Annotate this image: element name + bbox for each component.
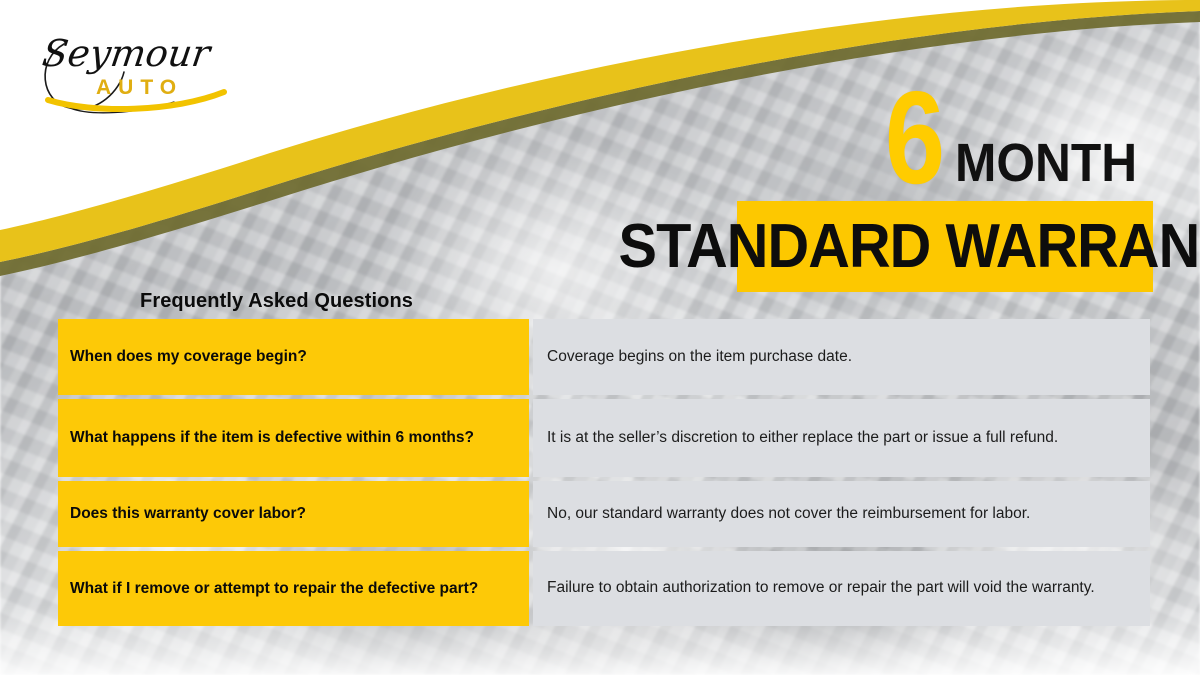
- seymour-auto-logo: Seymour AUTO: [24, 16, 274, 126]
- faq-answer-text: It is at the seller’s discretion to eith…: [547, 428, 1136, 448]
- faq-question-cell: What if I remove or attempt to repair th…: [58, 551, 529, 626]
- duration-number: 6: [884, 84, 943, 192]
- faq-table: When does my coverage begin? Coverage be…: [58, 319, 1150, 626]
- faq-row: What if I remove or attempt to repair th…: [58, 551, 1150, 626]
- faq-heading: Frequently Asked Questions: [140, 290, 413, 313]
- logo-wordmark: Seymour: [40, 31, 215, 75]
- duration-line: 6 MONTH: [737, 70, 1153, 192]
- faq-question-text: What if I remove or attempt to repair th…: [70, 579, 478, 599]
- faq-question-cell: When does my coverage begin?: [58, 319, 529, 395]
- duration-unit: MONTH: [955, 140, 1137, 192]
- faq-row: When does my coverage begin? Coverage be…: [58, 319, 1150, 395]
- faq-answer-cell: Failure to obtain authorization to remov…: [533, 551, 1150, 626]
- faq-question-cell: What happens if the item is defective wi…: [58, 399, 529, 477]
- logo-subtext: AUTO: [96, 76, 183, 99]
- faq-question-cell: Does this warranty cover labor?: [58, 481, 529, 547]
- faq-row: Does this warranty cover labor? No, our …: [58, 481, 1150, 547]
- faq-answer-text: No, our standard warranty does not cover…: [547, 504, 1136, 524]
- faq-answer-cell: It is at the seller’s discretion to eith…: [533, 399, 1150, 477]
- faq-question-text: When does my coverage begin?: [70, 347, 307, 367]
- warranty-slide: Seymour AUTO 6 MONTH STANDARD WARRANTY F…: [0, 0, 1200, 675]
- warranty-headline: 6 MONTH STANDARD WARRANTY: [737, 70, 1153, 292]
- standard-warranty-label: STANDARD WARRANTY: [619, 216, 1200, 278]
- faq-question-text: What happens if the item is defective wi…: [70, 428, 474, 448]
- faq-answer-text: Coverage begins on the item purchase dat…: [547, 347, 1136, 367]
- faq-row: What happens if the item is defective wi…: [58, 399, 1150, 477]
- faq-answer-cell: No, our standard warranty does not cover…: [533, 481, 1150, 547]
- standard-warranty-banner: STANDARD WARRANTY: [737, 201, 1153, 292]
- faq-question-text: Does this warranty cover labor?: [70, 504, 306, 524]
- faq-answer-cell: Coverage begins on the item purchase dat…: [533, 319, 1150, 395]
- faq-answer-text: Failure to obtain authorization to remov…: [547, 578, 1136, 598]
